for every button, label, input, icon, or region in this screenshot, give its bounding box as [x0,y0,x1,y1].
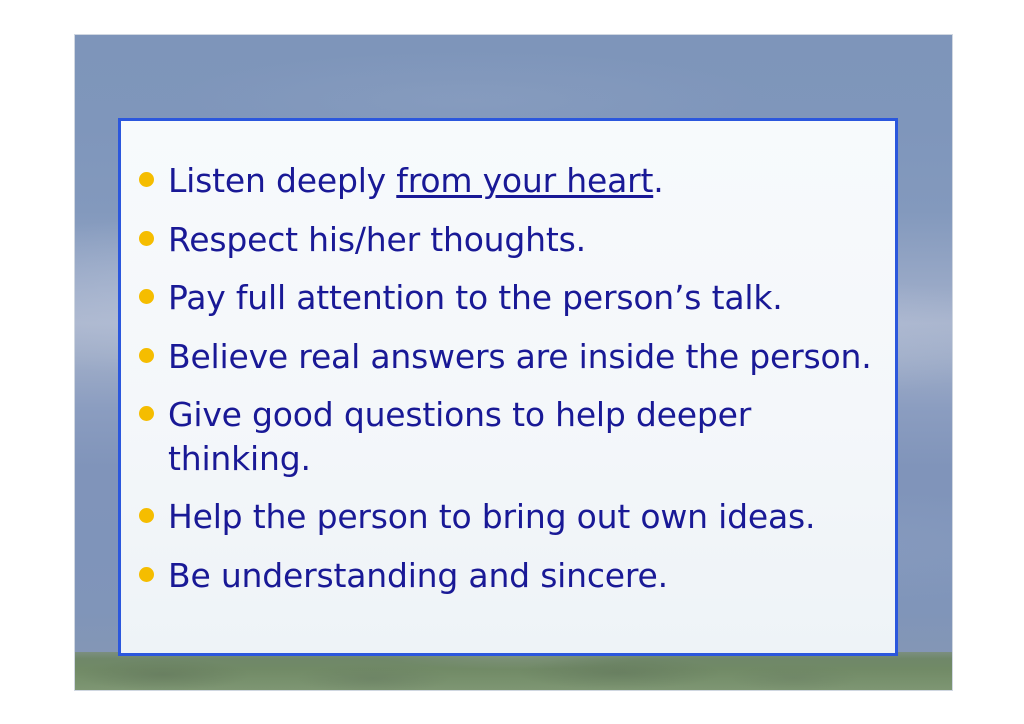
list-item: Respect his/her thoughts. [139,218,873,262]
list-item: Pay full attention to the person’s talk. [139,276,873,320]
bullet-dot-icon [139,172,154,187]
text-run: Help the person to bring out own ideas. [168,497,815,536]
bullet-text-believe-real-answers: Believe real answers are inside the pers… [168,335,872,379]
text-run: Be understanding and sincere. [168,556,668,595]
bullet-dot-icon [139,567,154,582]
text-run: Listen deeply [168,161,396,200]
text-run: Pay full attention to the person’s talk. [168,278,783,317]
list-item: Help the person to bring out own ideas. [139,495,873,539]
ground-texture [75,652,952,690]
bullet-text-listen-deeply: Listen deeply from your heart. [168,159,664,203]
list-item: Give good questions to help deeper think… [139,393,873,480]
list-item: Believe real answers are inside the pers… [139,335,873,379]
bullet-dot-icon [139,348,154,363]
bullet-dot-icon [139,406,154,421]
bullet-dot-icon [139,231,154,246]
text-run: Believe real answers are inside the pers… [168,337,872,376]
bullet-text-pay-full-attention: Pay full attention to the person’s talk. [168,276,783,320]
bullet-text-give-good-questions: Give good questions to help deeper think… [168,393,751,480]
text-run: Give good questions to help deeper think… [168,395,751,478]
underlined-emphasis: from your heart [396,161,653,200]
bullet-list: Listen deeply from your heart.Respect hi… [121,121,895,597]
presentation-slide: Listen deeply from your heart.Respect hi… [75,35,952,690]
text-run: . [653,161,663,200]
list-item: Be understanding and sincere. [139,554,873,598]
bullet-text-be-understanding: Be understanding and sincere. [168,554,668,598]
bullet-text-respect-thoughts: Respect his/her thoughts. [168,218,586,262]
bullet-text-help-bring-out-ideas: Help the person to bring out own ideas. [168,495,815,539]
text-run: Respect his/her thoughts. [168,220,586,259]
list-item: Listen deeply from your heart. [139,159,873,203]
bullet-dot-icon [139,508,154,523]
content-text-box: Listen deeply from your heart.Respect hi… [118,118,898,656]
bullet-dot-icon [139,289,154,304]
